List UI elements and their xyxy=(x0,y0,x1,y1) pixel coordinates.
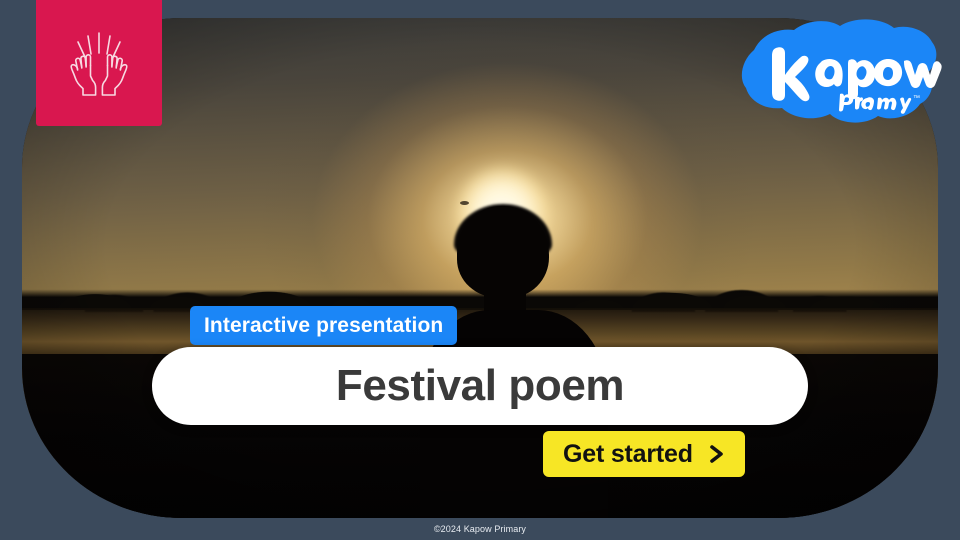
get-started-button[interactable]: Get started xyxy=(543,431,745,477)
title-pill: Festival poem xyxy=(152,347,808,425)
footer-bar: ©2024 Kapow Primary xyxy=(0,518,960,540)
status-badge: Interactive presentation xyxy=(190,306,457,345)
chevron-right-icon xyxy=(707,442,727,466)
copyright-text: ©2024 Kapow Primary xyxy=(434,524,526,534)
page-title: Festival poem xyxy=(336,361,624,411)
presentation-slide: ™ Interactive presentation Festival poem… xyxy=(0,0,960,540)
get-started-label: Get started xyxy=(563,440,693,469)
open-hands-icon xyxy=(57,21,141,105)
subject-tile xyxy=(36,0,162,126)
svg-text:™: ™ xyxy=(913,95,920,102)
kapow-primary-logo: ™ xyxy=(736,12,942,128)
